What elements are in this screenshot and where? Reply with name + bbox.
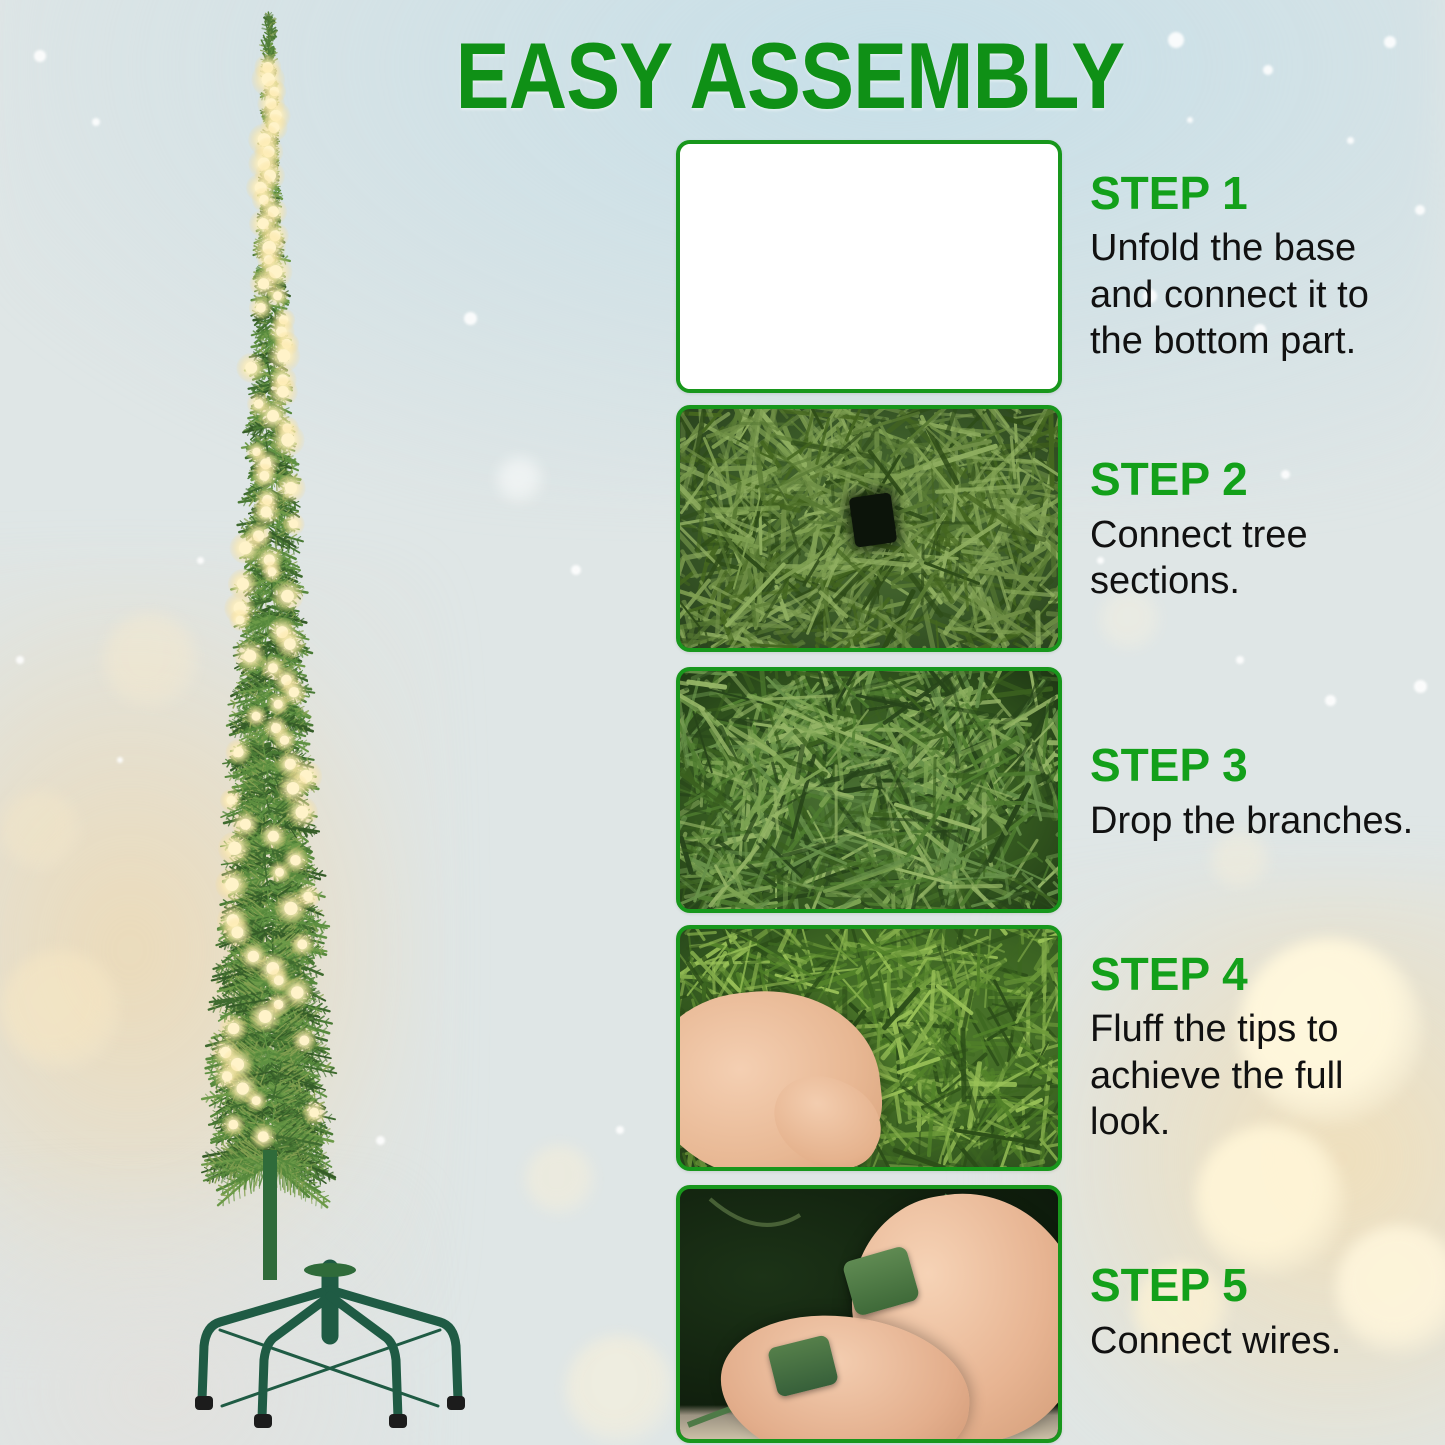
step-text-1: STEP 1 Unfold the base and connect it to…	[1090, 154, 1420, 379]
steps-list: STEP 1 Unfold the base and connect it to…	[0, 0, 1445, 1445]
needle	[1046, 841, 1058, 859]
step-label-1: STEP 1	[1090, 169, 1420, 218]
step-text-3: STEP 3 Drop the branches.	[1090, 723, 1430, 863]
step-text-2: STEP 2 Connect tree sections.	[1090, 445, 1420, 615]
step-description-3: Drop the branches.	[1090, 798, 1430, 844]
needle	[1048, 409, 1054, 486]
needle	[1050, 1068, 1058, 1072]
step-row-2: STEP 2 Connect tree sections.	[676, 405, 1062, 652]
step-label-4: STEP 4	[1090, 950, 1420, 999]
step-row-5: STEP 5 Connect wires.	[676, 1185, 1062, 1443]
needle	[758, 671, 767, 698]
step-text-4: STEP 4 Fluff the tips to achieve the ful…	[1090, 945, 1420, 1150]
step-label-5: STEP 5	[1090, 1261, 1430, 1310]
step-text-5: STEP 5 Connect wires.	[1090, 1243, 1430, 1383]
needle	[986, 801, 1026, 805]
step-description-2: Connect tree sections.	[1090, 512, 1420, 605]
step-label-3: STEP 3	[1090, 741, 1430, 790]
needle	[929, 748, 957, 750]
pole-connector-socket	[849, 492, 898, 547]
step-label-2: STEP 2	[1090, 455, 1420, 504]
needle	[1054, 754, 1058, 758]
step-description-4: Fluff the tips to achieve the full look.	[1090, 1006, 1420, 1145]
step-row-4: STEP 4 Fluff the tips to achieve the ful…	[676, 925, 1062, 1171]
branches-photo[interactable]	[676, 667, 1062, 913]
needle	[886, 971, 891, 1008]
tree-section-connector-photo[interactable]	[676, 405, 1062, 652]
step-row-1: STEP 1 Unfold the base and connect it to…	[676, 140, 1062, 393]
fluff-tips-photo[interactable]	[676, 925, 1062, 1171]
tree-stand-photo[interactable]	[676, 140, 1062, 393]
connect-wires-photo[interactable]	[676, 1185, 1062, 1443]
infographic-root: EASY ASSEMBLY	[0, 0, 1445, 1445]
step-description-5: Connect wires.	[1090, 1318, 1430, 1364]
step-description-1: Unfold the base and connect it to the bo…	[1090, 225, 1420, 364]
needle	[977, 943, 981, 995]
step-row-3: STEP 3 Drop the branches.	[676, 667, 1062, 913]
